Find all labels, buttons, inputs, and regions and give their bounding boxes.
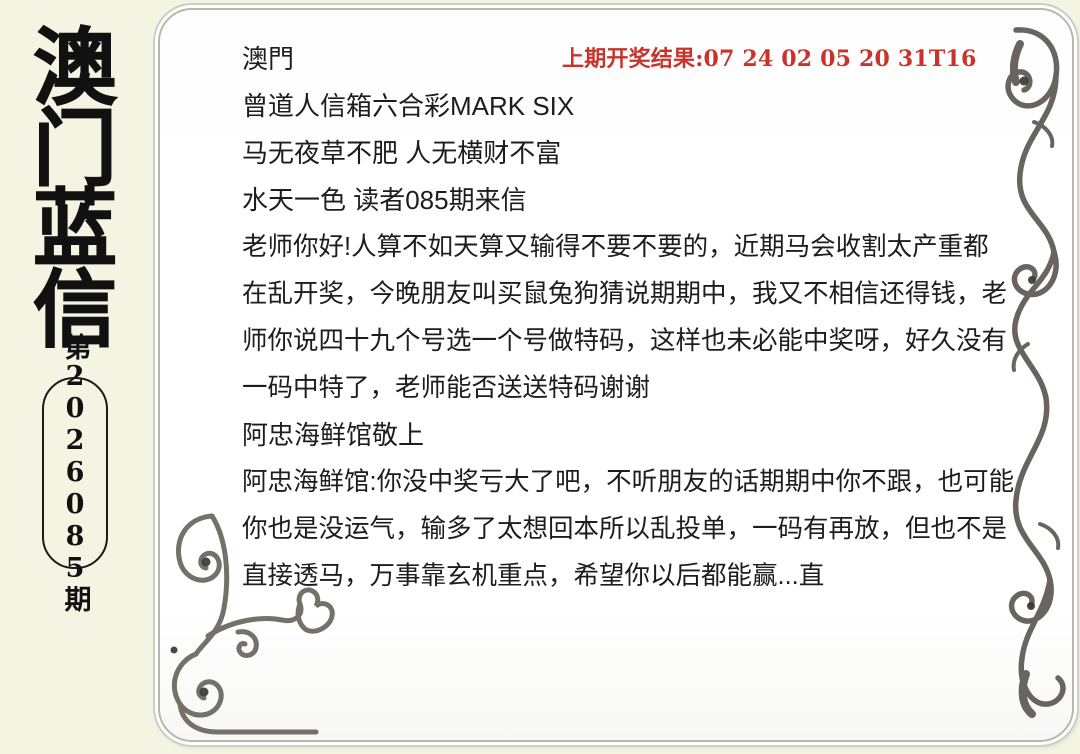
- letter-line-6: 师你说四十九个号选一个号做特码，这样也未必能中奖呀，好久没有: [242, 318, 1042, 365]
- masthead-char-2: 门: [33, 109, 117, 190]
- letter-line-4: 老师你好!人算不如天算又输得不要不要的，近期马会收割太产重都: [242, 224, 1042, 271]
- letter-line-1: 曾道人信箱六合彩MARK SIX: [242, 83, 1042, 130]
- masthead-char-3: 蓝: [33, 189, 117, 270]
- letter-line-5: 在乱开奖，今晚朋友叫买鼠兔狗猜说期期中，我又不相信还得钱，老: [242, 271, 1042, 318]
- letter-card: 澳門 上期开奖结果:07 24 02 05 20 31T16 曾道人信箱六合彩M…: [158, 8, 1074, 742]
- region-label: 澳門: [242, 44, 294, 74]
- letter-line-3: 水天一色 读者085期来信: [242, 177, 1042, 224]
- masthead-title: 澳 门 蓝 信: [33, 28, 117, 351]
- poster-page: 澳 门 蓝 信 第2026085期: [0, 0, 1080, 754]
- letter-body: 澳門 上期开奖结果:07 24 02 05 20 31T16 曾道人信箱六合彩M…: [242, 36, 1042, 600]
- draw-result-label: 上期开奖结果:07 24 02 05 20 31T16: [562, 36, 977, 83]
- letter-line-11: 直接透马，万事靠玄机重点，希望你以后都能赢...直: [242, 553, 1042, 600]
- issue-badge-label: 第2026085期: [62, 333, 89, 613]
- letter-line-7: 一码中特了，老师能否送送特码谢谢: [242, 365, 1042, 412]
- letter-header-row: 澳門 上期开奖结果:07 24 02 05 20 31T16: [242, 36, 1042, 83]
- letter-line-10: 你也是没运气，输多了太想回本所以乱投单，一码有再放，但也不是: [242, 506, 1042, 553]
- issue-badge: 第2026085期: [42, 377, 108, 569]
- letter-line-2: 马无夜草不肥 人无横财不富: [242, 130, 1042, 177]
- letter-line-9: 阿忠海鲜馆:你没中奖亏大了吧，不听朋友的话期期中你不跟，也可能: [242, 459, 1042, 506]
- letter-line-8: 阿忠海鲜馆敬上: [242, 412, 1042, 459]
- masthead-char-1: 澳: [33, 28, 117, 109]
- masthead: 澳 门 蓝 信 第2026085期: [0, 0, 150, 754]
